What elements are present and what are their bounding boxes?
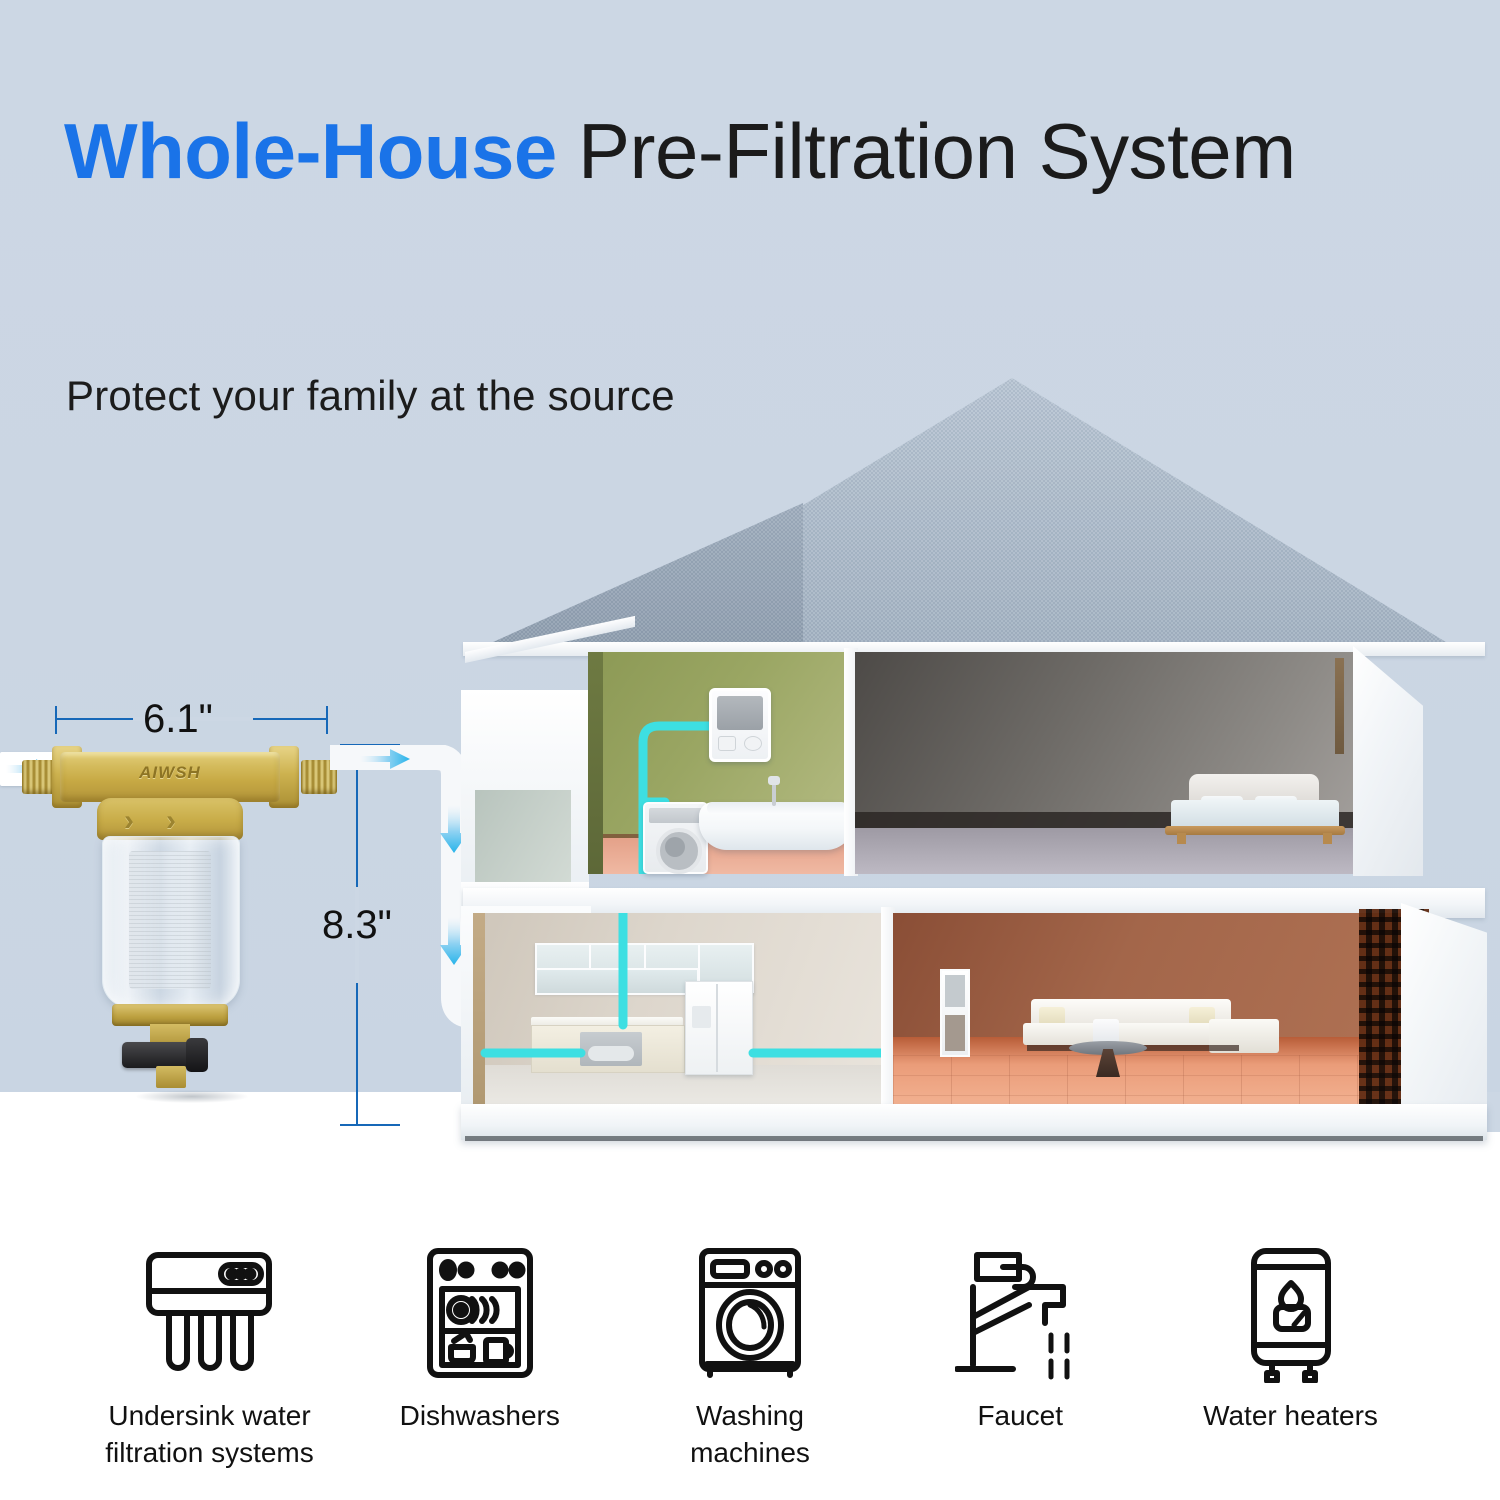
- title-highlight: Whole-House: [64, 107, 557, 195]
- compatibility-label: Washing machines: [633, 1398, 868, 1472]
- bathtub-rim: [707, 802, 846, 814]
- compatibility-item-water-heaters[interactable]: Water heaters: [1173, 1238, 1408, 1435]
- compatibility-item-dishwashers[interactable]: Dishwashers: [362, 1238, 597, 1435]
- compatibility-icon-row: Undersink waterfiltration systems: [0, 1238, 1500, 1488]
- compatibility-item-washing-machines[interactable]: Washing machines: [633, 1238, 868, 1472]
- water-heater-icon: [1236, 1238, 1346, 1388]
- compatibility-label: Dishwashers: [400, 1398, 560, 1435]
- bed-leg: [1177, 833, 1186, 844]
- undersink-filter-icon: [135, 1238, 285, 1388]
- lower-right-exterior-wall: [1401, 903, 1487, 1115]
- height-tick-bottom: [340, 1124, 400, 1126]
- width-tick-left: [55, 706, 57, 734]
- compatibility-label: Undersink waterfiltration systems: [105, 1398, 314, 1472]
- flow-chevron-icon: ›: [166, 806, 176, 836]
- brand-logo: AIWSH: [60, 763, 280, 783]
- compatibility-item-faucet[interactable]: Faucet: [903, 1238, 1138, 1435]
- lower-floor: [473, 913, 1485, 1131]
- roof-lower-slope: [473, 503, 803, 651]
- bowl-brass-ring: [112, 1004, 228, 1026]
- heater-display: [717, 696, 763, 730]
- upstairs-water-heater: [709, 688, 771, 762]
- width-dimension-label: 6.1": [143, 697, 213, 742]
- filter-mesh-screen: [129, 851, 211, 989]
- bed-frame: [1165, 826, 1345, 835]
- foundation-slab: [461, 1104, 1487, 1140]
- washing-machine-icon: [690, 1238, 810, 1388]
- foundation-shadow: [465, 1136, 1483, 1141]
- bed: [1163, 774, 1348, 840]
- width-tick-right: [326, 706, 328, 734]
- drain-outlet-tip: [156, 1066, 186, 1088]
- page-title: Whole-House Pre-Filtration System: [64, 96, 1364, 207]
- flow-chevron-icon: ›: [124, 806, 134, 836]
- upper-right-exterior-wall: [1353, 646, 1423, 876]
- washer-control-panel: [649, 808, 702, 823]
- cabinet-screen: [945, 975, 965, 1007]
- upper-floor: [473, 652, 1485, 892]
- compatibility-label: Water heaters: [1203, 1398, 1378, 1435]
- compatibility-label: Faucet: [977, 1398, 1063, 1435]
- pre-filter-unit: AIWSH › ›: [40, 738, 330, 1098]
- transparent-bowl: [102, 836, 240, 1008]
- faucet-icon: [955, 1238, 1085, 1388]
- living-room-tile-pattern: [893, 1055, 1401, 1109]
- living-room-cabinet: [940, 969, 970, 1057]
- product-shadow: [136, 1090, 248, 1103]
- bed-leg: [1323, 833, 1332, 844]
- heater-button: [718, 736, 736, 751]
- bathtub-faucet-head: [768, 776, 780, 785]
- product-infographic: Whole-House Pre-Filtration System Protec…: [0, 0, 1500, 1500]
- house-cutaway-illustration: [455, 370, 1500, 1150]
- washer-drum-inner: [665, 837, 685, 857]
- compatibility-item-undersink[interactable]: Undersink waterfiltration systems: [92, 1238, 327, 1472]
- cabinet-lower: [945, 1015, 965, 1051]
- brass-housing: AIWSH: [60, 752, 280, 802]
- dishwasher-icon: [420, 1238, 540, 1388]
- title-rest: Pre-Filtration System: [557, 107, 1296, 195]
- heater-dial: [744, 736, 762, 751]
- bedroom-wardrobe-edge: [1335, 658, 1344, 754]
- flush-valve-knob: [186, 1038, 208, 1072]
